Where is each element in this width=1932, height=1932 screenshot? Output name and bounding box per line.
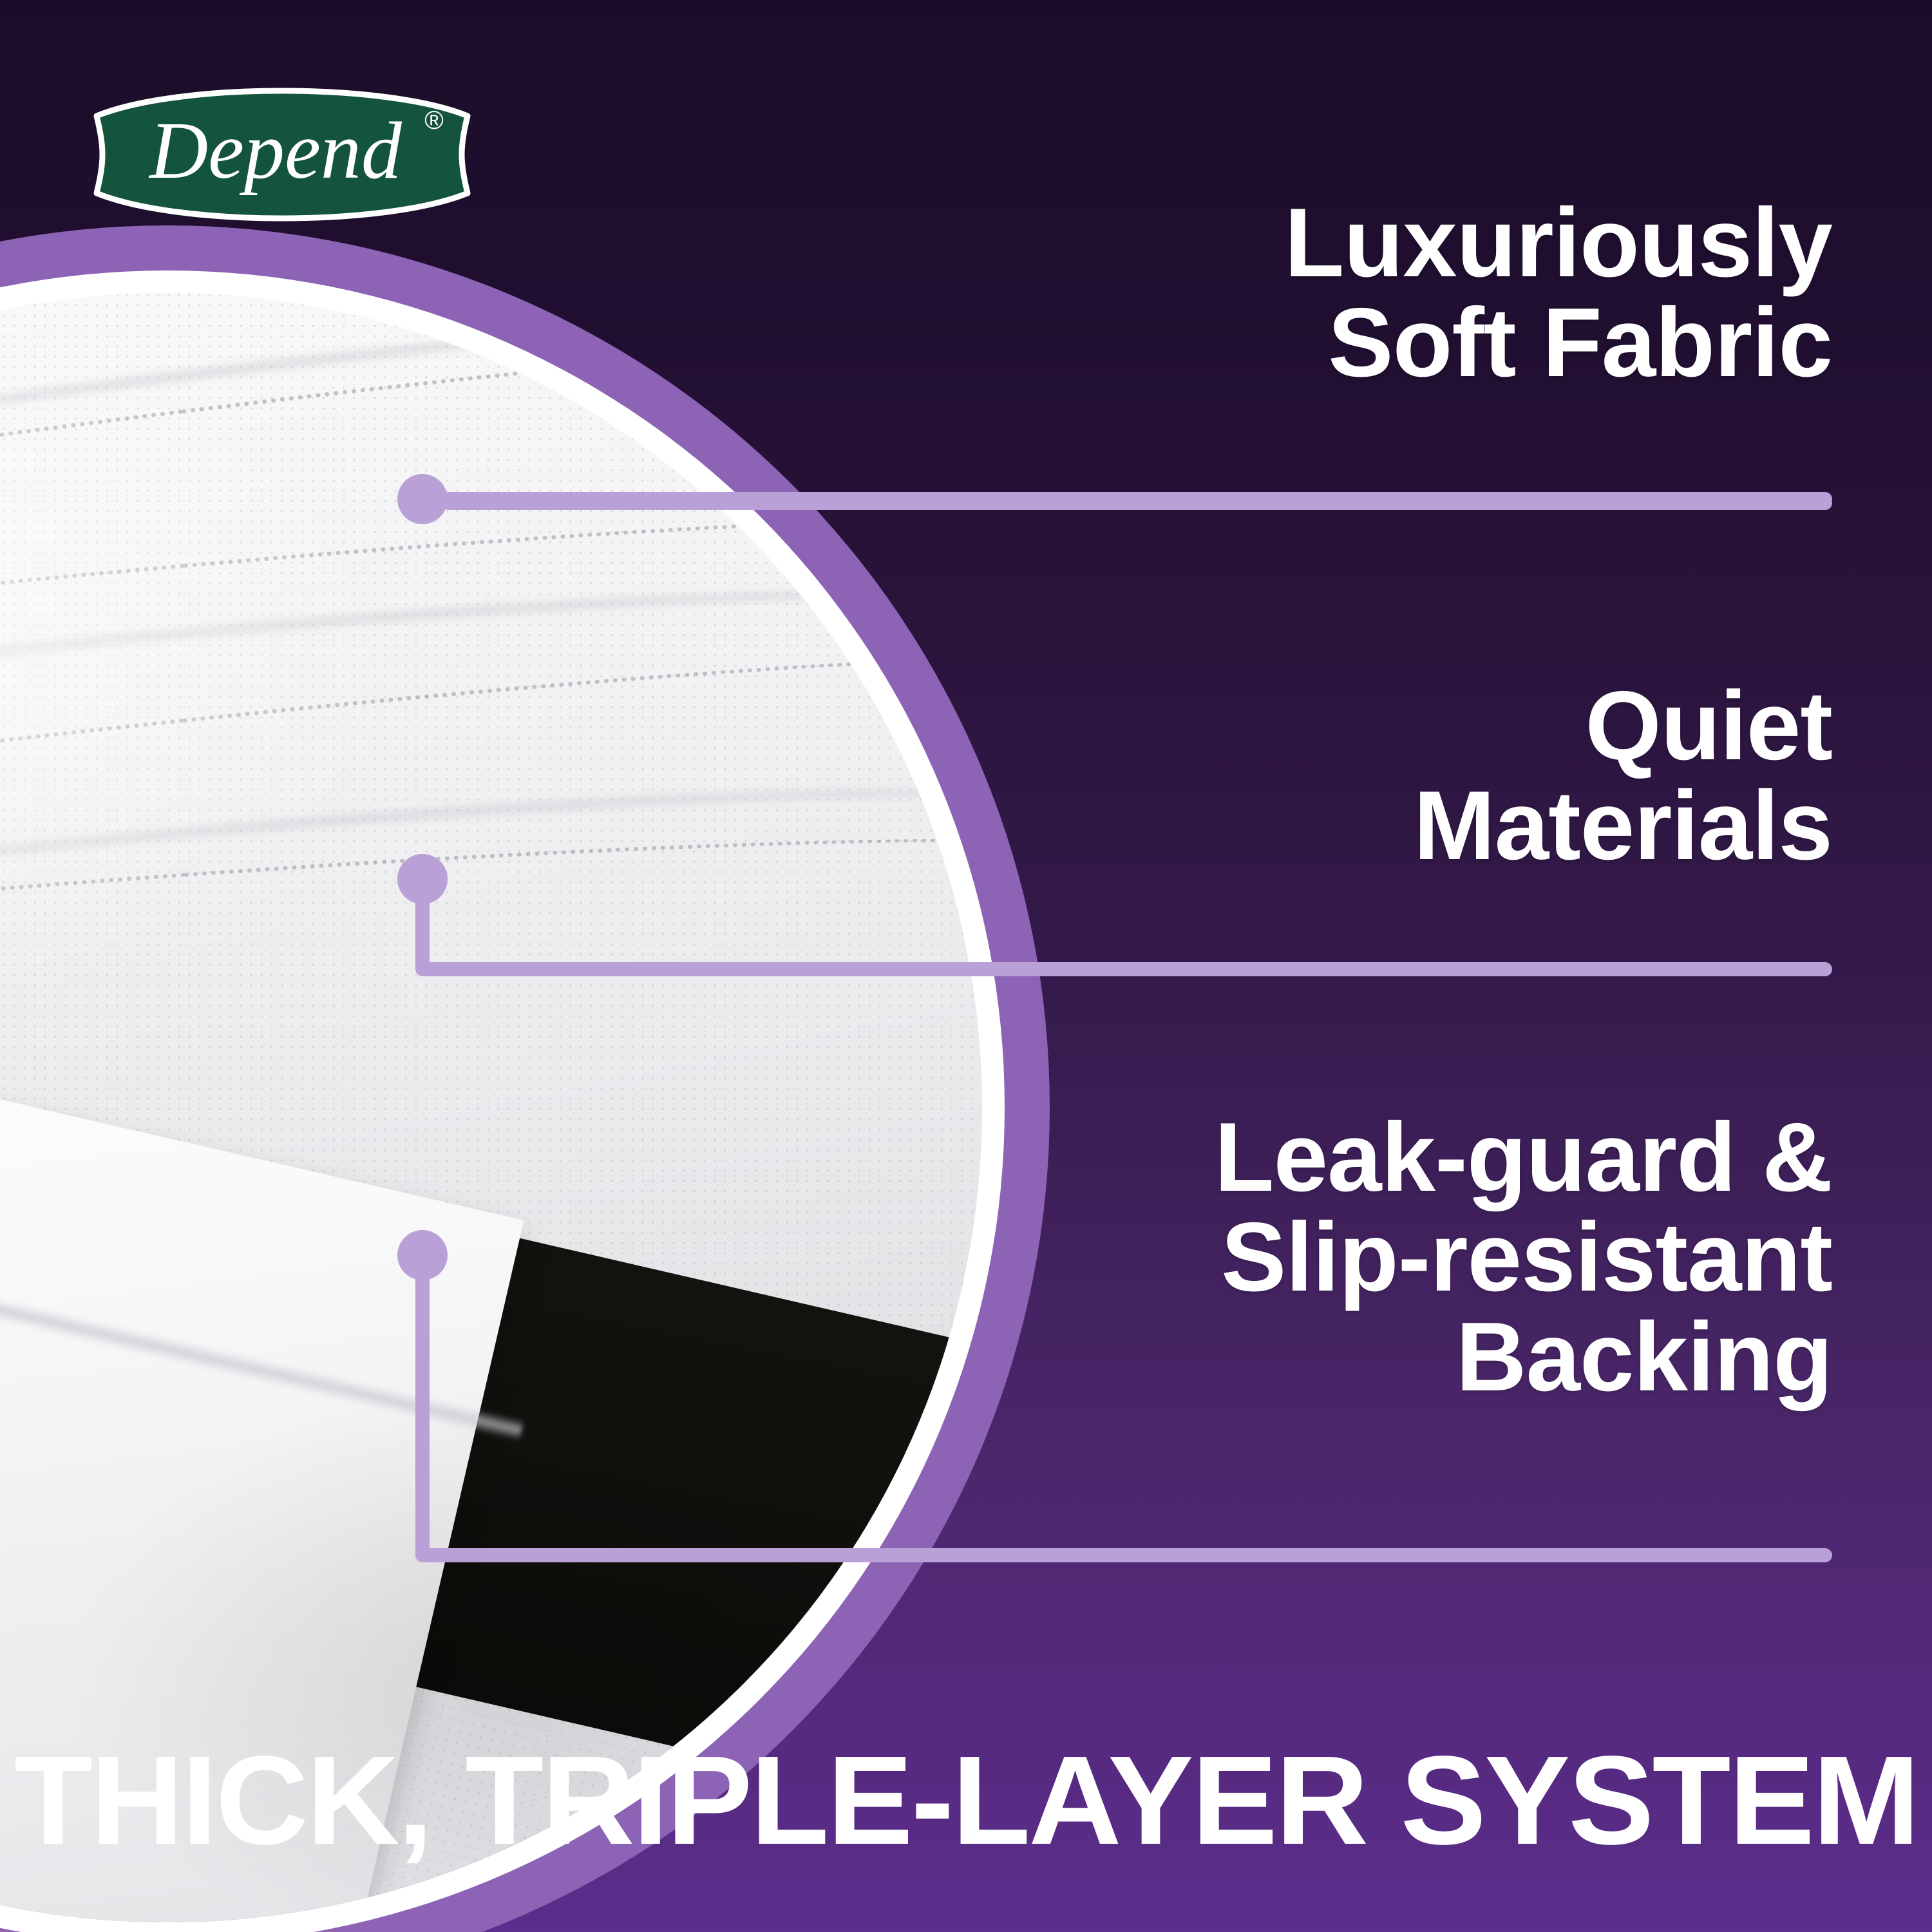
feature-3-line-3: Backing — [1215, 1307, 1832, 1407]
feature-2-quiet-materials: Quiet Materials — [1414, 676, 1832, 876]
bottom-banner-headline: THICK, TRIPLE-LAYER SYSTEM — [0, 1728, 1932, 1873]
registered-trademark-icon: ® — [424, 106, 443, 135]
logo-wordmark: Depend — [148, 106, 402, 196]
feature-2-line-2: Materials — [1414, 776, 1832, 876]
callout-dot-1 — [397, 474, 448, 524]
feature-1-line-1: Luxuriously — [1285, 193, 1832, 293]
feature-1-underline — [442, 496, 1832, 510]
feature-1-luxuriously-soft-fabric: Luxuriously Soft Fabric — [1285, 193, 1832, 393]
feature-1-line-2: Soft Fabric — [1285, 293, 1832, 393]
callout-line-2-horizontal — [415, 962, 1832, 976]
product-photo — [0, 293, 982, 1922]
feature-3-line-2: Slip-resistant — [1215, 1207, 1832, 1307]
callout-line-3-horizontal — [415, 1548, 1832, 1562]
product-feature-infographic: Depend ® Luxuriously Soft Fabric Quiet M… — [0, 0, 1932, 1932]
callout-line-3-vertical — [415, 1265, 430, 1562]
product-photo-circle — [0, 293, 982, 1922]
feature-3-line-1: Leak-guard & — [1215, 1108, 1832, 1207]
feature-2-line-1: Quiet — [1414, 676, 1832, 776]
feature-3-leak-guard-slip-resistant-backing: Leak-guard & Slip-resistant Backing — [1215, 1108, 1832, 1407]
depend-logo: Depend ® — [76, 76, 488, 233]
